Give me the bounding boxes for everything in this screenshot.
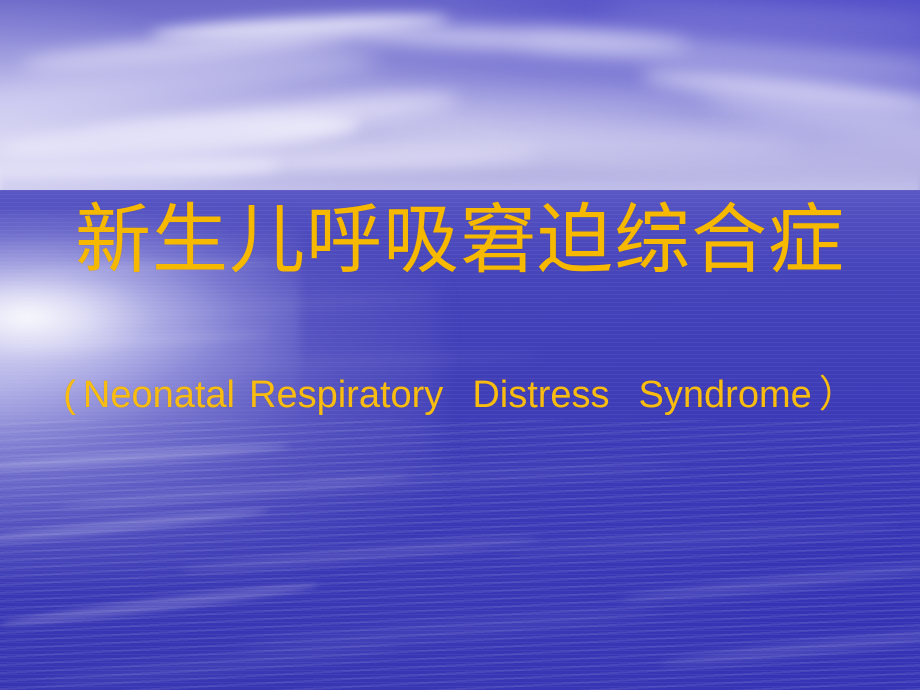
subtitle-word-neonatal: Neonatal [83, 374, 235, 416]
presentation-slide: 新生儿呼吸窘迫综合症 (NeonatalRespiratoryDistressS… [0, 0, 920, 690]
subtitle-word-distress: Distress [472, 374, 609, 416]
subtitle-close-paren: ） [819, 374, 857, 416]
slide-title: 新生儿呼吸窘迫综合症 [0, 196, 920, 284]
subtitle-word-respiratory: Respiratory [249, 374, 443, 416]
subtitle-word-syndrome: Syndrome [639, 374, 812, 416]
subtitle-open-paren: ( [63, 374, 76, 416]
sky-left-haze [0, 0, 920, 196]
slide-subtitle: (NeonatalRespiratoryDistressSyndrome） [0, 372, 920, 418]
